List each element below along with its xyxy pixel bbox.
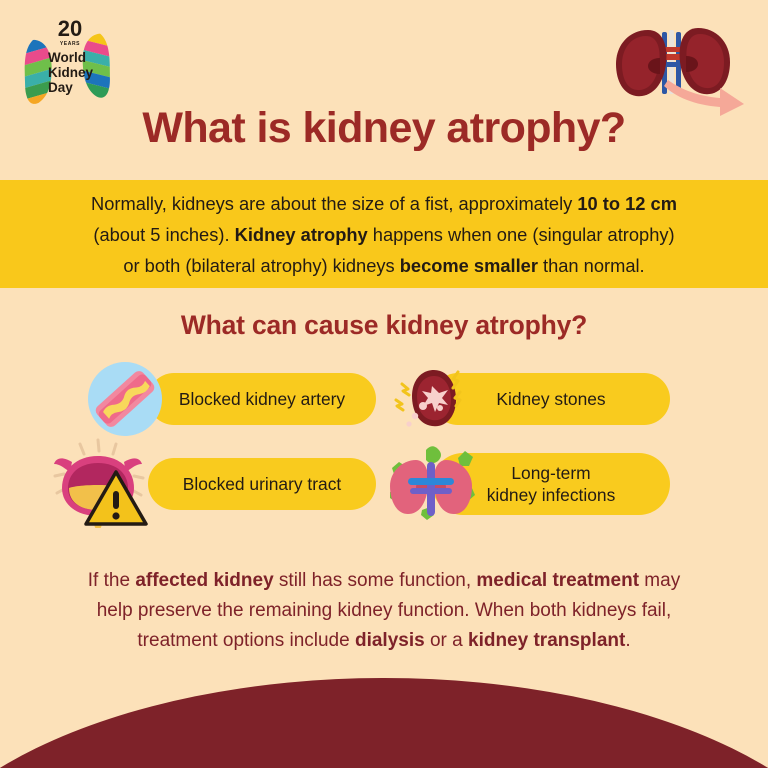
definition-line3-tail: than normal. [538,255,645,276]
cause-pill[interactable]: Kidney stones [432,373,670,425]
outro-dialysis: dialysis [355,630,425,651]
outro-kidney-transplant: kidney transplant [468,630,625,651]
cause-card-blocked-urinary-tract[interactable]: Blocked urinary tract [148,458,376,510]
definition-term: Kidney atrophy [235,224,368,245]
outro-g: or a [425,630,468,651]
definition-banner: Normally, kidneys are about the size of … [0,180,768,288]
cause-label: Blocked kidney artery [179,388,345,410]
outro-c: still has some function, [274,570,477,591]
cause-label: Long-term kidney infections [487,462,616,506]
bottom-decorative-arc [0,678,768,768]
causes-list: Blocked kidney artery [0,360,768,540]
infographic-poster: 20 YEARS World Kidney Day [0,0,768,768]
outro-i: . [625,630,630,651]
definition-emphasis: become smaller [400,255,538,276]
causes-heading: What can cause kidney atrophy? [0,310,768,341]
logo-line-3: Day [48,80,73,95]
blocked-urinary-tract-icon [50,436,160,528]
logo-anniversary-label: YEARS [60,41,80,47]
definition-line3-plain: or both (bilateral atrophy) kidneys [123,255,399,276]
shrinking-kidneys-illustration [602,14,754,118]
definition-text: Normally, kidneys are about the size of … [59,188,709,281]
cause-card-kidney-infections[interactable]: Long-term kidney infections [432,453,670,515]
page-title: What is kidney atrophy? [0,104,768,153]
outro-medical-treatment: medical treatment [476,570,639,591]
definition-line2-plain: (about 5 inches). [93,224,234,245]
logo-anniversary-number: 20 [58,16,82,41]
outro-affected-kidney: affected kidney [135,570,273,591]
logo-line-1: World [48,50,86,65]
cause-pill[interactable]: Blocked kidney artery [148,373,376,425]
cause-pill[interactable]: Blocked urinary tract [148,458,376,510]
cause-card-blocked-kidney-artery[interactable]: Blocked kidney artery [148,373,376,425]
cause-pill[interactable]: Long-term kidney infections [432,453,670,515]
world-kidney-day-logo: 20 YEARS World Kidney Day [14,14,126,106]
outro-a: If the [88,570,136,591]
cause-label: Kidney stones [496,388,605,410]
definition-size-value: 10 to 12 cm [577,193,677,214]
cause-label: Blocked urinary tract [183,473,342,495]
logo-line-2: Kidney [48,65,94,80]
definition-line1-plain: Normally, kidneys are about the size of … [91,193,577,214]
cause-card-kidney-stones[interactable]: Kidney stones [432,373,670,425]
treatment-paragraph: If the affected kidney still has some fu… [0,566,768,656]
definition-line2-tail: happens when one (singular atrophy) [368,224,675,245]
